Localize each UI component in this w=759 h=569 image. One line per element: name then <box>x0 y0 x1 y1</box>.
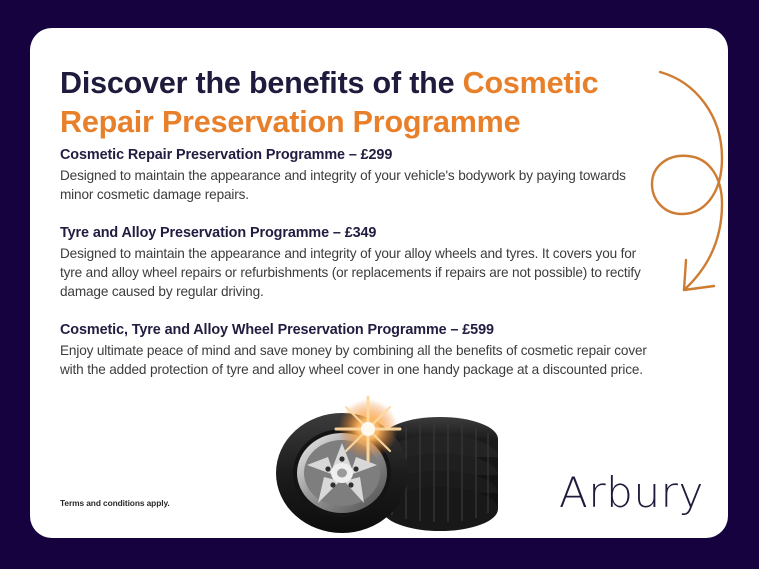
benefit-body: Designed to maintain the appearance and … <box>60 166 660 204</box>
benefit-body: Designed to maintain the appearance and … <box>60 244 660 301</box>
headline-dark-text: Discover the benefits of the <box>60 66 463 100</box>
benefit-title: Tyre and Alloy Preservation Programme – … <box>60 225 660 241</box>
benefit-title: Cosmetic Repair Preservation Programme –… <box>60 147 660 163</box>
benefit-section: Tyre and Alloy Preservation Programme – … <box>60 225 660 301</box>
orange-starburst-icon <box>336 397 400 461</box>
promo-card: Discover the benefits of the CosmeticRep… <box>30 28 728 538</box>
headline-accent-cosmetic: Cosmetic <box>463 66 599 100</box>
benefit-section: Cosmetic Repair Preservation Programme –… <box>60 147 660 204</box>
benefit-body: Enjoy ultimate peace of mind and save mo… <box>60 341 660 379</box>
benefits-list: Cosmetic Repair Preservation Programme –… <box>60 147 660 379</box>
page-title: Discover the benefits of the CosmeticRep… <box>60 64 660 142</box>
terms-text: Terms and conditions apply. <box>60 498 170 508</box>
benefit-section: Cosmetic, Tyre and Alloy Wheel Preservat… <box>60 322 660 379</box>
brand-logo: Arbury <box>559 468 704 517</box>
poster-background: Discover the benefits of the CosmeticRep… <box>0 0 759 569</box>
benefit-title: Cosmetic, Tyre and Alloy Wheel Preservat… <box>60 322 660 338</box>
headline-accent-line2: Repair Preservation Programme <box>60 105 520 139</box>
stacked-tyres-alloy-wheel-icon <box>264 395 504 538</box>
